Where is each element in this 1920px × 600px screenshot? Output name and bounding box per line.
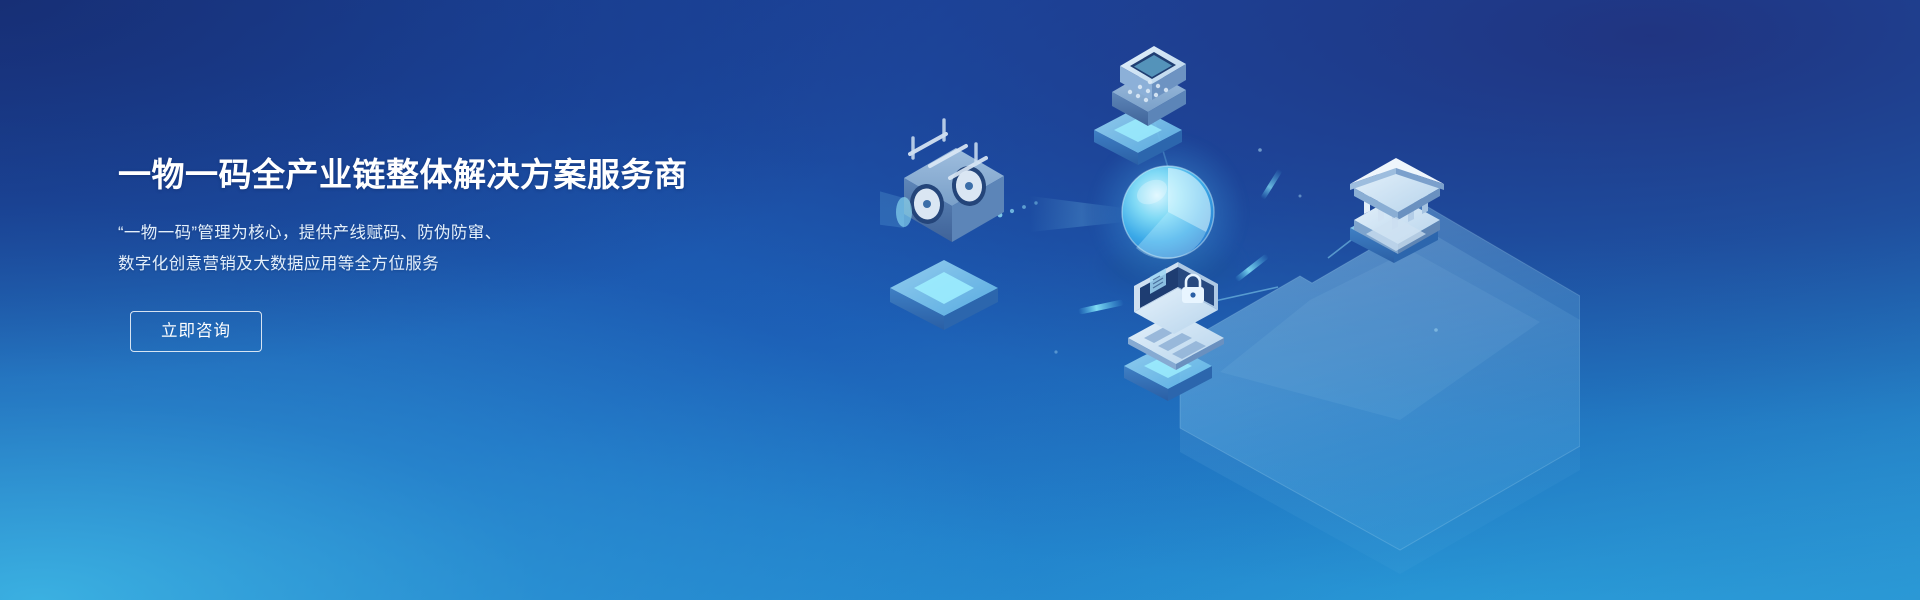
data-pulse-bank <box>1234 253 1269 282</box>
data-dot-3 <box>1022 205 1026 209</box>
isometric-network-illustration <box>880 0 1580 600</box>
translucent-isometric-platform <box>1180 200 1580 574</box>
hero-copy-block: 一物一码全产业链整体解决方案服务商 “一物一码”管理为核心，提供产线赋码、防伪防… <box>118 132 738 352</box>
pos-terminal-device <box>1112 46 1186 126</box>
data-dot-2 <box>1010 209 1014 213</box>
server-rack-node <box>880 120 1004 330</box>
hero-subtitle: “一物一码”管理为核心，提供产线赋码、防伪防窜、 数字化创意营销及大数据应用等全… <box>118 218 738 280</box>
page-title: 一物一码全产业链整体解决方案服务商 <box>118 154 738 196</box>
data-pulse-left <box>1078 299 1124 314</box>
server-pedestal <box>890 260 998 330</box>
data-pulse-upper <box>1260 169 1282 200</box>
hero-subtitle-line-2: 数字化创意营销及大数据应用等全方位服务 <box>118 249 738 280</box>
hero-subtitle-line-1: “一物一码”管理为核心，提供产线赋码、防伪防窜、 <box>118 218 738 249</box>
hero-banner: 一物一码全产业链整体解决方案服务商 “一物一码”管理为核心，提供产线赋码、防伪防… <box>0 0 1920 600</box>
consult-now-button[interactable]: 立即咨询 <box>130 311 262 352</box>
server-rack-body <box>880 120 1004 242</box>
